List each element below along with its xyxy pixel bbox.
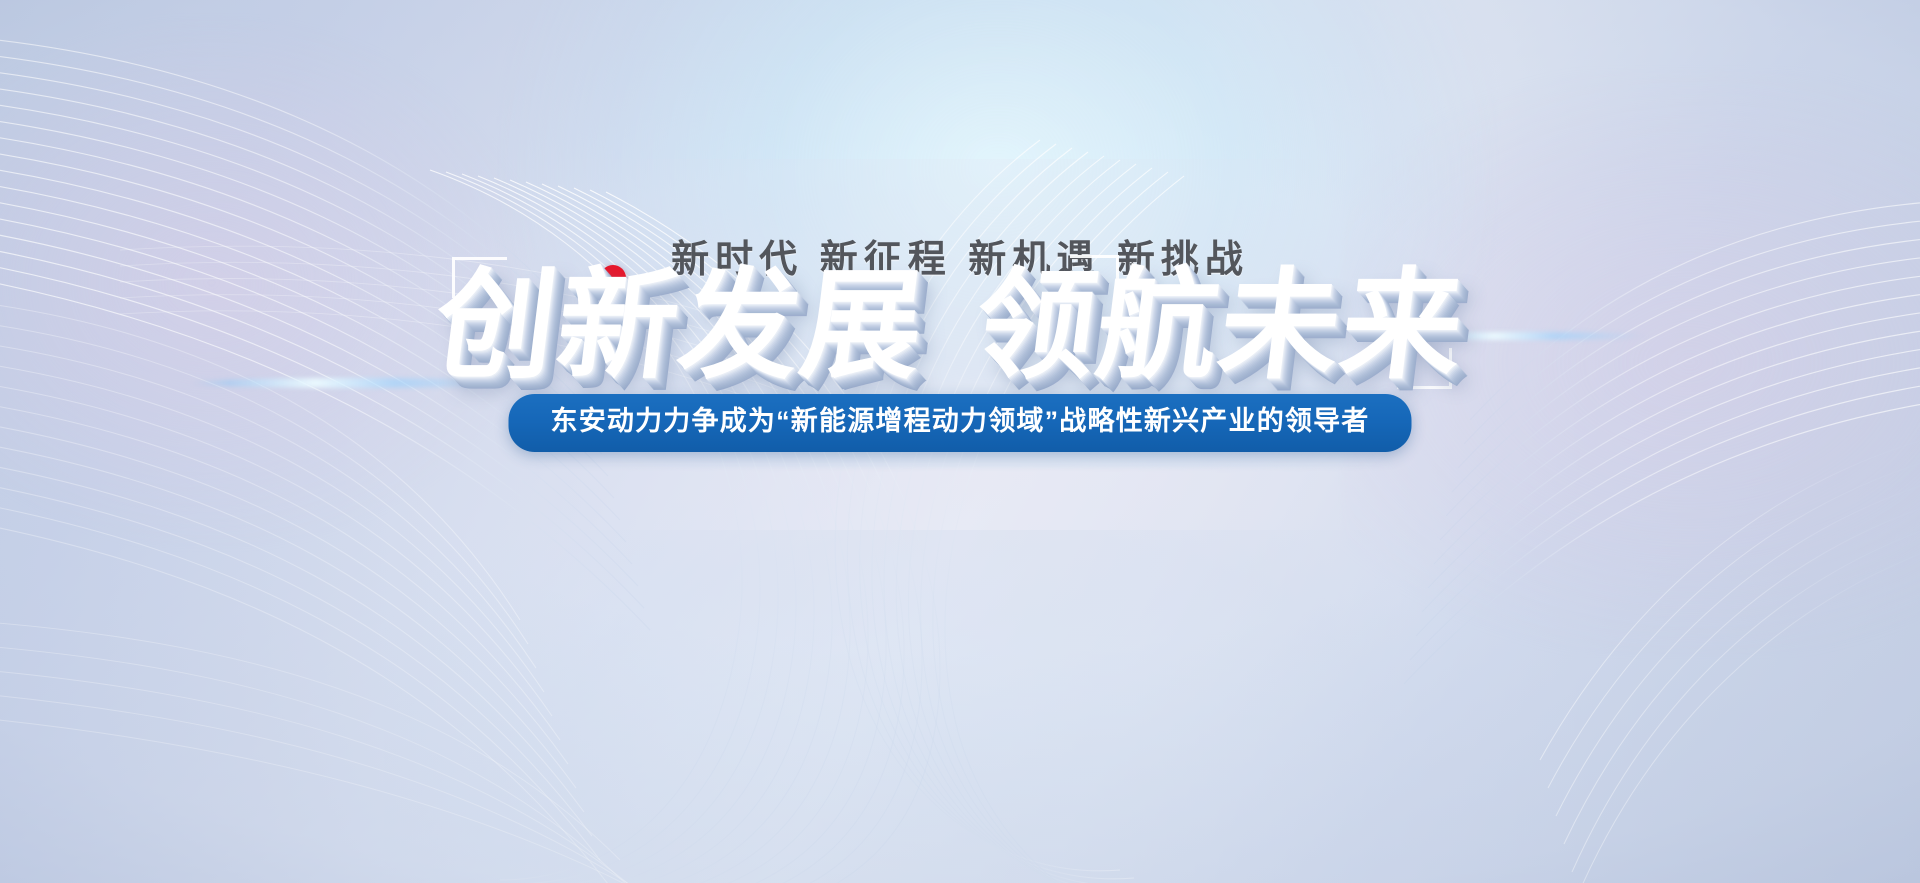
banner-title-inner: 创新发展 领航未来 <box>436 259 1464 393</box>
banner-stage: 新时代 新征程 新机遇 新挑战 创新发展 领航未来 东安动力力争成为“新能源增程… <box>0 0 1920 883</box>
banner-slogan-pill: 东安动力力争成为“新能源增程动力领域”战略性新兴产业的领导者 <box>509 394 1412 452</box>
banner-title-right: 领航未来 <box>968 259 1473 393</box>
banner-title-wrap: 创新发展 领航未来 <box>0 246 1920 406</box>
banner-slogan-text: 东安动力力争成为“新能源增程动力领域”战略性新兴产业的领导者 <box>551 405 1370 439</box>
banner-content: 新时代 新征程 新机遇 新挑战 创新发展 领航未来 东安动力力争成为“新能源增程… <box>0 0 1920 883</box>
banner-title-left: 创新发展 <box>428 259 933 393</box>
